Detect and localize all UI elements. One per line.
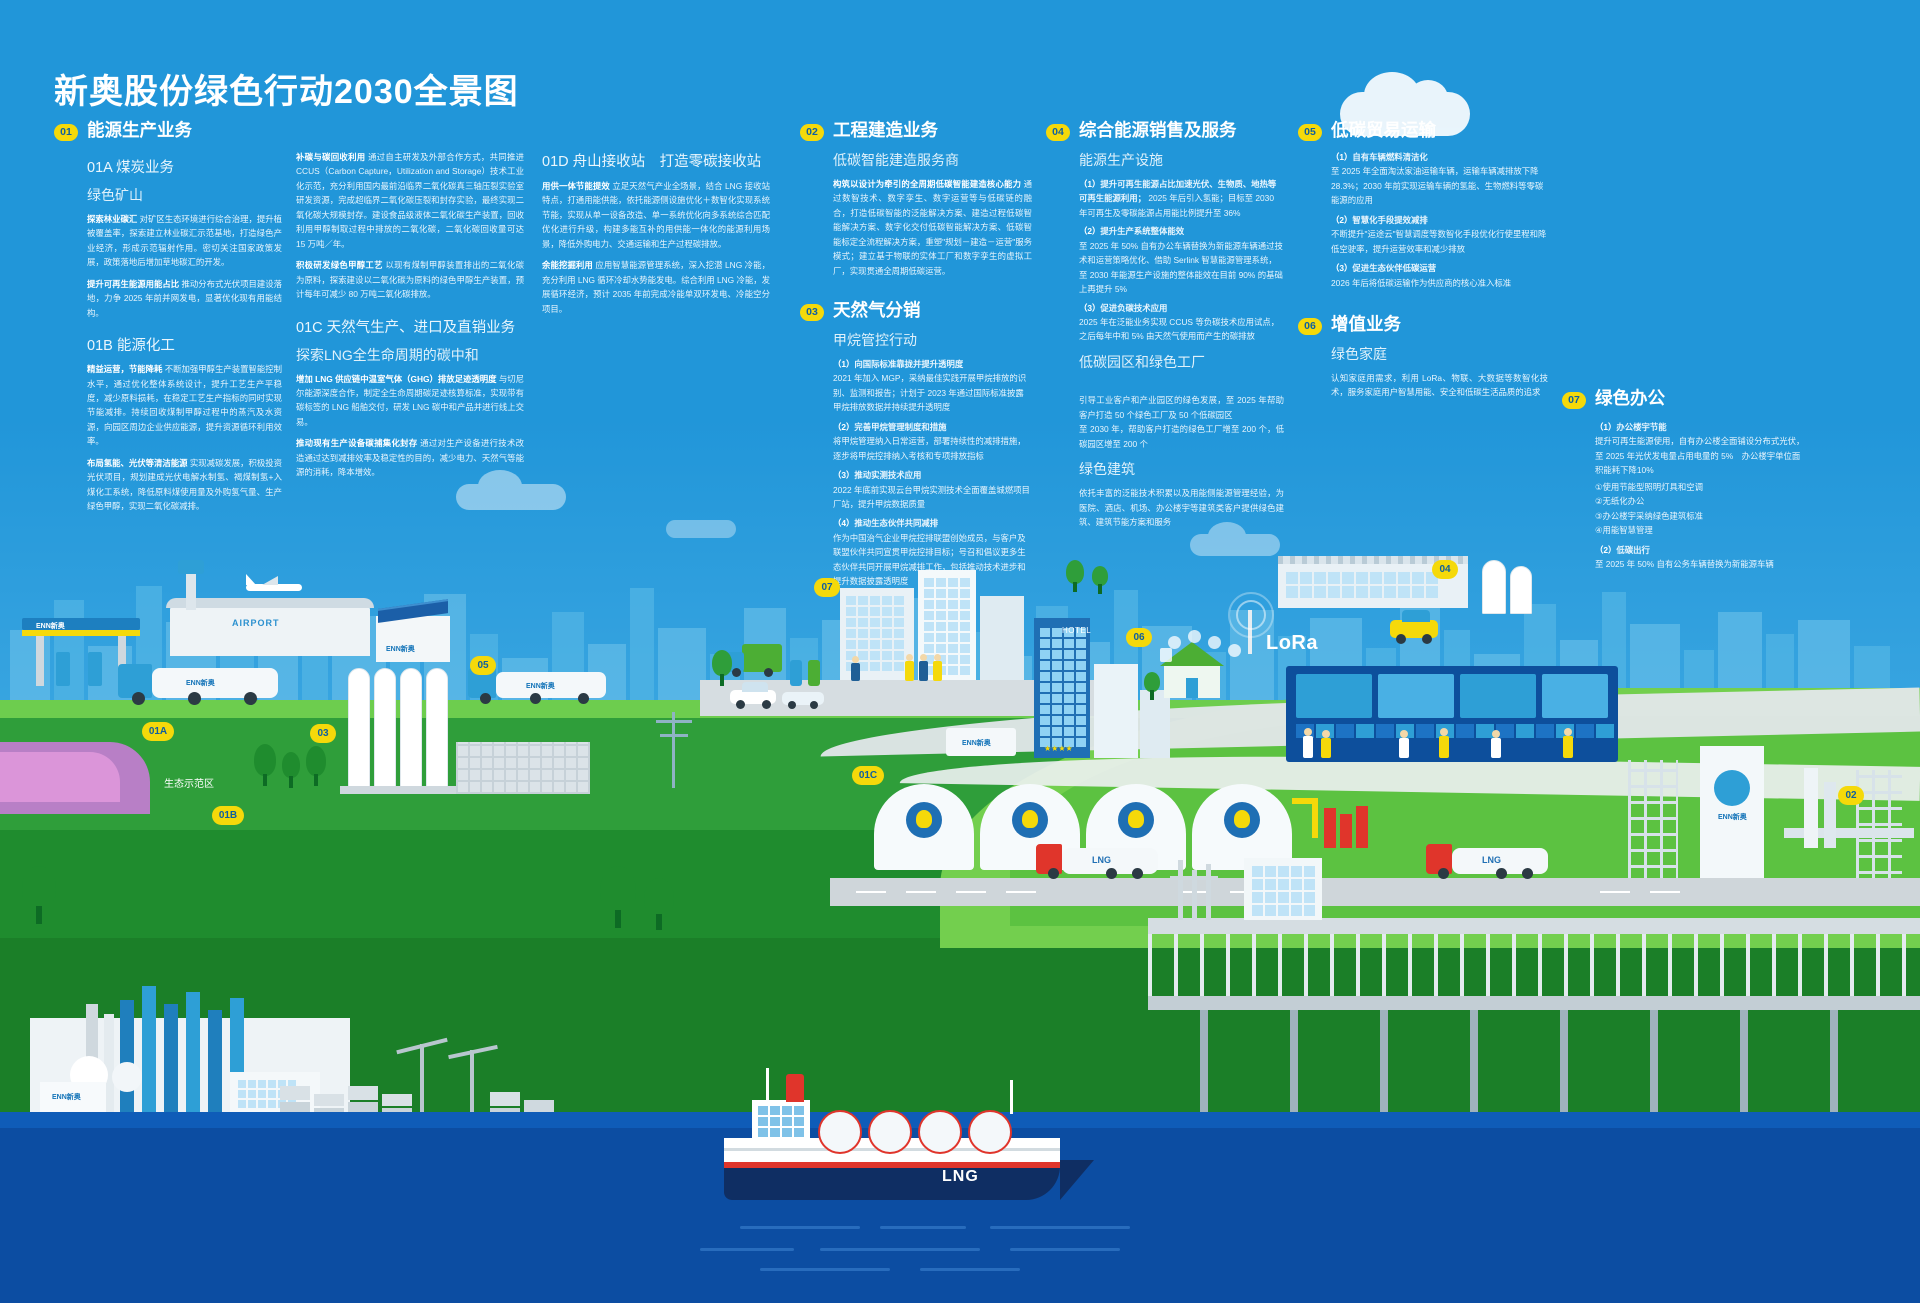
tree-icon	[712, 650, 732, 686]
window-grid	[924, 578, 970, 675]
lng-truck-label: LNG	[1092, 855, 1111, 865]
exhibition-screen	[1542, 674, 1608, 718]
tree-icon	[1144, 672, 1160, 700]
pier-piling	[1380, 1010, 1388, 1120]
person-figure	[1303, 736, 1313, 758]
pier-piling	[1560, 1010, 1568, 1120]
hotel-annex	[1140, 690, 1170, 758]
airport-tower-cab	[178, 560, 204, 574]
car-roof	[742, 682, 768, 692]
terminal-road	[830, 878, 1920, 906]
pier-piling	[1470, 1010, 1478, 1120]
loading-arm	[1206, 864, 1211, 920]
lng-truck-label: LNG	[1482, 855, 1501, 865]
pier-piling	[1200, 1010, 1208, 1120]
gas-station-pump	[88, 652, 102, 686]
window-grid	[758, 1106, 804, 1137]
truck-wheel	[732, 668, 741, 677]
pier-deck-2	[1148, 996, 1920, 1010]
car-wheel	[762, 700, 771, 709]
window-grid	[1286, 572, 1438, 598]
power-pylon-mast	[672, 712, 675, 788]
exhibition-screen	[1296, 674, 1372, 718]
pier-piling	[1740, 1010, 1748, 1120]
truck-wheel	[188, 692, 201, 705]
ev-charger	[808, 660, 820, 686]
container-stack	[314, 1094, 344, 1106]
tree-icon	[1092, 566, 1108, 594]
brand-label: ENN新奥	[1718, 812, 1747, 822]
wave-line	[1010, 1248, 1120, 1251]
loading-arm-cross	[1170, 876, 1218, 880]
container-stack	[382, 1094, 412, 1106]
tree-icon	[1066, 560, 1084, 592]
road-dash	[906, 891, 936, 893]
road-dash	[856, 891, 886, 893]
person-figure	[1440, 728, 1448, 736]
chemical-plant-column	[142, 986, 156, 1120]
brand-label: ENN新奥	[526, 681, 555, 691]
person-figure	[920, 654, 927, 661]
storage-silo	[1482, 560, 1506, 614]
container-stack	[348, 1086, 378, 1100]
map-marker-07[interactable]: 07	[814, 578, 840, 597]
pipeline-stack	[1356, 806, 1368, 848]
truck-wheel	[530, 693, 541, 704]
industrial-wall-grid	[456, 742, 590, 794]
wave-line	[700, 1248, 794, 1251]
airport-label: AIRPORT	[232, 618, 280, 628]
ship-mast	[766, 1068, 769, 1102]
crane-mast	[420, 1044, 424, 1118]
storage-sphere	[112, 1062, 142, 1092]
wave-line	[820, 1248, 980, 1251]
map-marker-04[interactable]: 04	[1432, 560, 1458, 579]
pipeline	[1312, 798, 1318, 838]
car-wheel	[810, 701, 818, 709]
car-wheel	[788, 701, 796, 709]
person-figure	[905, 661, 914, 681]
lng-tank-logo-inner	[916, 810, 932, 828]
solar-building	[376, 616, 450, 662]
ship-bow-flag	[1010, 1080, 1013, 1114]
wave-line	[740, 1226, 860, 1229]
ship-bow	[1060, 1160, 1094, 1200]
map-marker-05[interactable]: 05	[470, 656, 496, 675]
truck-wheel	[1132, 868, 1143, 879]
person-figure	[1439, 736, 1449, 758]
airport-terminal	[170, 604, 370, 656]
map-marker-01A[interactable]: 01A	[142, 722, 174, 741]
map-marker-06[interactable]: 06	[1126, 628, 1152, 647]
upload-arrow-icon	[1160, 648, 1172, 662]
tree-icon	[306, 746, 326, 786]
truck-wheel	[578, 693, 589, 704]
person-figure	[919, 661, 928, 681]
ship-lng-tank	[968, 1110, 1012, 1154]
truck-wheel	[1522, 868, 1533, 879]
map-marker-01B[interactable]: 01B	[212, 806, 244, 825]
map-marker-02[interactable]: 02	[1838, 786, 1864, 805]
wave-line	[990, 1226, 1130, 1229]
person-figure	[934, 654, 941, 661]
person-figure	[1322, 730, 1330, 738]
wave-line	[920, 1268, 1020, 1271]
truck-wheel	[244, 692, 257, 705]
truck-wheel	[132, 692, 145, 705]
airplane-body	[246, 584, 302, 591]
person-figure	[933, 661, 942, 681]
person-figure	[1564, 728, 1572, 736]
lng-tank-logo-inner	[1128, 810, 1144, 828]
ship-funnel	[786, 1074, 804, 1102]
person-figure	[1491, 738, 1501, 758]
pier-piling	[1290, 1010, 1298, 1120]
delivery-truck-box	[742, 644, 782, 672]
airplane-wing	[262, 576, 278, 585]
crane-mast	[470, 1050, 474, 1118]
car-wheel	[736, 700, 745, 709]
green-house-door	[1186, 678, 1198, 698]
person-figure	[1399, 738, 1409, 758]
storage-silo	[348, 668, 370, 788]
silo-base	[340, 786, 456, 794]
ship-lng-tank	[868, 1110, 912, 1154]
hotel-stars: ★★★★	[1044, 744, 1073, 753]
chemical-plant-column	[208, 1010, 222, 1120]
truck-wheel	[1496, 868, 1507, 879]
infographic-poster: 新奥股份绿色行动2030全景图 01 能源生产业务 01A 煤炭业务 绿色矿山 …	[0, 0, 1920, 1303]
enn-logo-icon	[1714, 770, 1750, 806]
map-marker-01C[interactable]: 01C	[852, 766, 884, 785]
truck-wheel	[1422, 634, 1432, 644]
ship-hull	[724, 1166, 1060, 1200]
lng-tank-logo-inner	[1022, 810, 1038, 828]
container-stack	[280, 1086, 310, 1100]
pier-piling	[1830, 1010, 1838, 1120]
ship-lng-tank	[818, 1110, 862, 1154]
person-figure	[906, 654, 913, 661]
eco-park-label: 生态示范区	[164, 775, 214, 790]
brand-label: ENN新奥	[962, 738, 991, 748]
road-dash	[956, 891, 986, 893]
truck-wheel	[1048, 868, 1059, 879]
brand-label: ENN新奥	[386, 644, 415, 654]
map-marker-03[interactable]: 03	[310, 724, 336, 743]
airplane-tail	[246, 574, 256, 585]
truck-wheel	[480, 693, 491, 704]
person-figure	[852, 656, 859, 663]
lng-tank-logo-inner	[1234, 810, 1250, 828]
chemical-plant-column	[186, 992, 200, 1120]
road-dash	[1600, 891, 1630, 893]
ship-lng-tank	[918, 1110, 962, 1154]
ev-van-roof	[1402, 610, 1430, 622]
window-grid	[1040, 628, 1086, 747]
pier-deck	[1148, 918, 1920, 934]
airport-tower	[186, 570, 196, 610]
exhibition-screen	[1460, 674, 1536, 718]
chemical-plant-column	[120, 1000, 134, 1120]
truck-wheel	[1396, 634, 1406, 644]
storage-silo	[1510, 566, 1532, 614]
office-building	[980, 596, 1024, 684]
ship-lng-label: LNG	[942, 1168, 979, 1186]
tree-icon	[644, 878, 674, 930]
wave-line	[760, 1268, 890, 1271]
iot-icon	[1228, 644, 1241, 657]
person-figure	[1304, 728, 1312, 736]
window-grid	[1252, 866, 1315, 916]
tanker-truck-tank	[152, 668, 278, 698]
loading-arm	[1178, 860, 1183, 920]
truck-wheel	[764, 668, 773, 677]
iot-icon	[1188, 630, 1201, 643]
storage-silo	[374, 668, 396, 788]
pier-truss	[1148, 934, 1920, 996]
power-pylon-arm	[660, 734, 688, 737]
person-figure	[851, 663, 860, 681]
tree-icon	[254, 744, 276, 786]
person-figure	[1492, 730, 1500, 738]
hotel-label: HOTEL	[1062, 626, 1091, 635]
tree-icon	[600, 866, 636, 928]
storage-silo	[400, 668, 422, 788]
airport-roof	[166, 598, 374, 608]
lora-label: LoRa	[1266, 632, 1318, 655]
hotel-annex	[1094, 664, 1138, 758]
container-stack	[490, 1092, 520, 1106]
tree-icon	[282, 752, 300, 788]
person-figure	[1563, 736, 1573, 758]
pipeline-stack	[1324, 808, 1336, 848]
iot-icon	[1208, 636, 1221, 649]
ev-charger	[790, 660, 802, 686]
brand-label: ENN新奥	[52, 1092, 81, 1102]
industrial-chimney	[1804, 768, 1818, 848]
brand-label: ENN新奥	[36, 621, 65, 631]
person-figure	[1321, 738, 1331, 758]
exhibition-screen	[1378, 674, 1454, 718]
tree-icon	[22, 866, 56, 924]
chemical-plant-column	[164, 1004, 178, 1120]
gas-station-pillar	[36, 636, 44, 686]
road-dash	[1650, 891, 1680, 893]
landscape-illustration: ENN新奥 AIRPORT ENN新奥 ENN新奥 ENN新奥	[0, 0, 1920, 1303]
pier-piling	[1650, 1010, 1658, 1120]
wave-line	[880, 1226, 966, 1229]
truck-wheel	[1106, 868, 1117, 879]
road-dash	[1006, 891, 1036, 893]
storage-silo	[426, 668, 448, 788]
pipeline-stack	[1340, 814, 1352, 848]
power-pylon-arm	[656, 720, 692, 723]
brand-label: ENN新奥	[186, 678, 215, 688]
person-figure	[1400, 730, 1408, 738]
gas-station-pump	[56, 652, 70, 686]
truck-wheel	[1438, 868, 1449, 879]
flower-field-highlight	[0, 752, 120, 802]
industrial-chimney	[1824, 782, 1836, 848]
